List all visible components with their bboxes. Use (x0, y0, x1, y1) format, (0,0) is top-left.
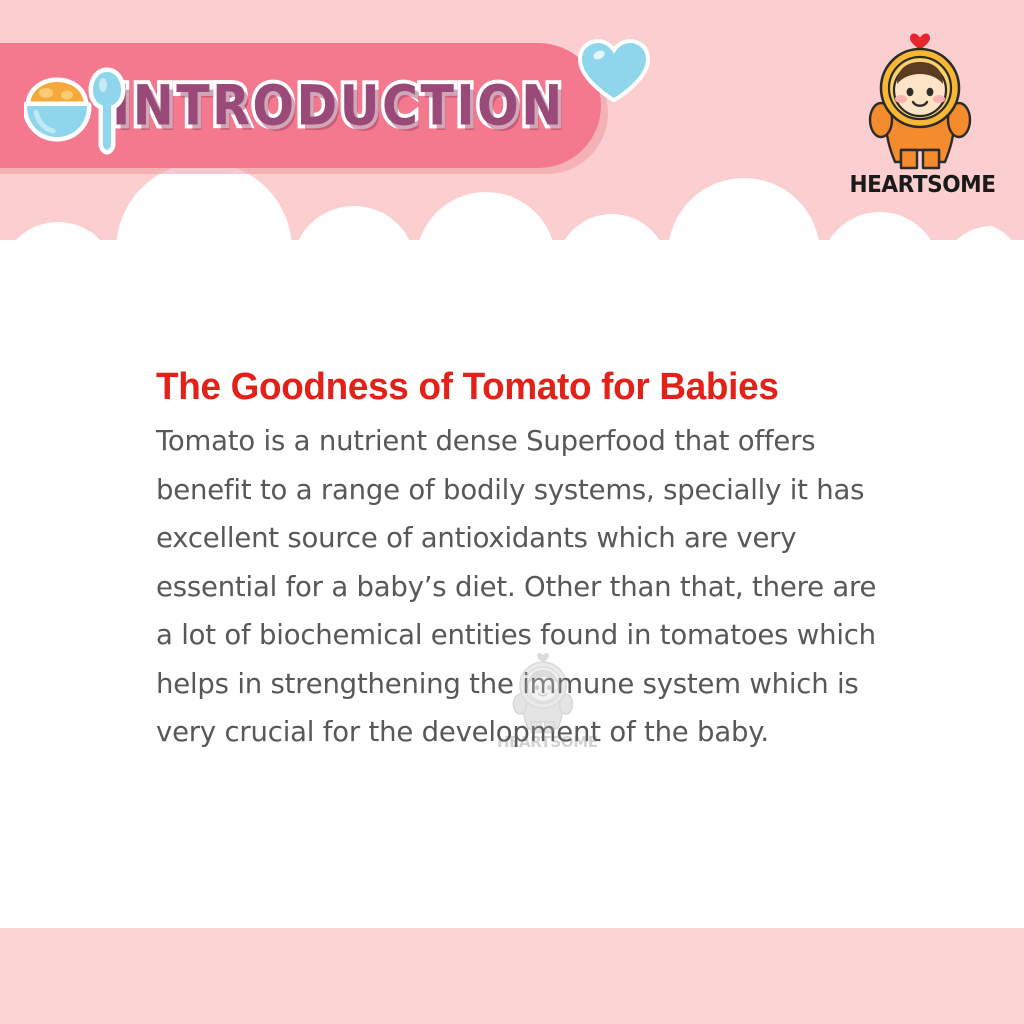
article-body-text: Tomato is a nutrient dense Superfood tha… (156, 417, 882, 757)
banner-title: INTRODUCTION (112, 74, 565, 138)
background-bottom-pink-band (0, 928, 1024, 1024)
blue-heart-icon (578, 38, 650, 104)
article-heading: The Goodness of Tomato for Babies (156, 366, 860, 409)
article-block: The Goodness of Tomato for Babies Tomato… (156, 366, 882, 757)
heartsome-baby-mascot-icon (859, 22, 981, 177)
brand-logo: HEARTSOME (845, 22, 995, 214)
spoon-icon (93, 72, 121, 150)
logo-wordmark: HEARTSOME (850, 172, 991, 198)
slide-canvas: INTRODUCTION (0, 0, 1024, 1024)
bowl-of-food-icon (24, 62, 128, 156)
